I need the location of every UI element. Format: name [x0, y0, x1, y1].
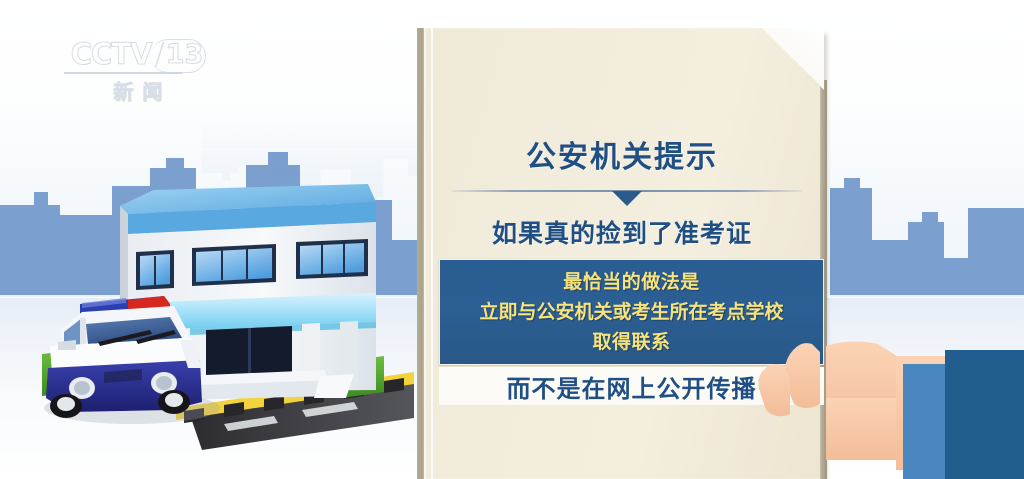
notice-highlight-box: 最恰当的做法是 立即与公安机关或考生所在考点学校 取得联系 — [439, 259, 824, 365]
logo-divider — [64, 72, 182, 74]
highlight-line-1: 最恰当的做法是 — [563, 267, 700, 297]
notice-title: 公安机关提示 — [424, 132, 820, 176]
notice-content: 公安机关提示 如果真的捡到了准考证 最恰当的做法是 立即与公安机关或考生所在考点… — [424, 28, 820, 479]
cctv13-channel-logo: CCTV / 13 新闻 — [62, 36, 212, 102]
broadcast-frame: CCTV / 13 新闻 — [0, 0, 1024, 479]
notice-paper-card: 公安机关提示 如果真的捡到了准考证 最恰当的做法是 立即与公安机关或考生所在考点… — [417, 28, 827, 479]
highlight-line-3: 取得联系 — [592, 327, 670, 357]
logo-ring-shape — [151, 39, 206, 73]
police-station-illustration — [24, 140, 414, 454]
chevron-down-icon — [612, 191, 642, 206]
logo-subtitle: 新闻 — [88, 76, 188, 105]
logo-cctv-text: CCTV — [71, 37, 152, 71]
notice-lead-line: 如果真的捡到了准考证 — [424, 214, 820, 250]
highlight-line-2: 立即与公安机关或考生所在考点学校 — [479, 297, 783, 327]
notice-closing-line: 而不是在网上公开传播 — [439, 367, 824, 405]
title-divider — [452, 190, 802, 212]
